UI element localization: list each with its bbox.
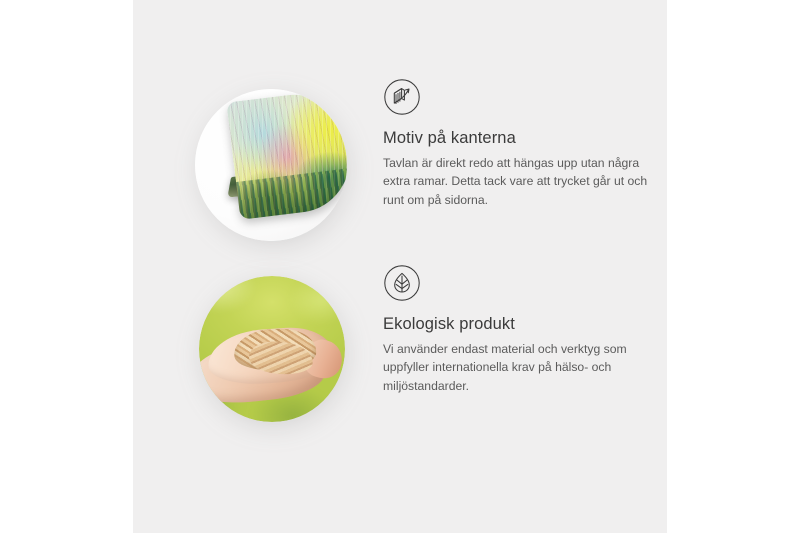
- feature-row-ekologisk-produkt: Ekologisk produkt Vi använder endast mat…: [133, 264, 667, 444]
- canvas-print-corner-photo: [195, 89, 347, 241]
- content-panel: Motiv på kanterna Tavlan är direkt redo …: [133, 0, 667, 533]
- feature-text-column: Ekologisk produkt Vi använder endast mat…: [383, 264, 667, 395]
- canvas-print-face: [226, 89, 347, 220]
- leaf-icon: [383, 264, 421, 302]
- product-feature-banner: Motiv på kanterna Tavlan är direkt redo …: [0, 0, 800, 533]
- feature-text-column: Motiv på kanterna Tavlan är direkt redo …: [383, 78, 667, 209]
- feature-description: Vi använder endast material och verktyg …: [383, 340, 651, 396]
- canvas-wrapped-edge-icon: [383, 78, 421, 116]
- feature-row-motiv-pa-kanterna: Motiv på kanterna Tavlan är direkt redo …: [133, 78, 667, 258]
- feature-title: Ekologisk produkt: [383, 315, 667, 335]
- feature-description: Tavlan är direkt redo att hängas upp uta…: [383, 154, 651, 210]
- hands-holding-wood-chips-photo: [199, 276, 345, 422]
- hands-photo-content: [199, 276, 345, 422]
- feature-title: Motiv på kanterna: [383, 129, 667, 149]
